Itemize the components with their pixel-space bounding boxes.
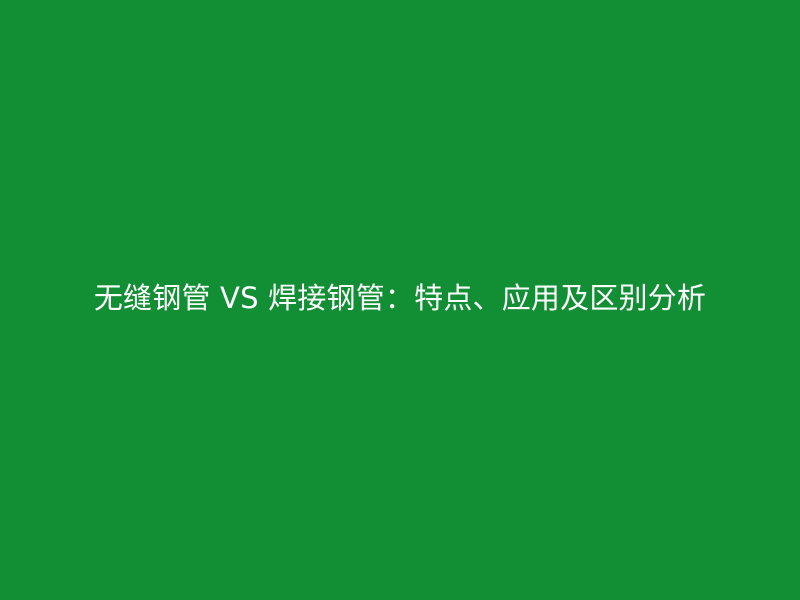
page-title: 无缝钢管 VS 焊接钢管：特点、应用及区别分析 — [0, 280, 800, 316]
title-card: 无缝钢管 VS 焊接钢管：特点、应用及区别分析 — [0, 0, 800, 600]
